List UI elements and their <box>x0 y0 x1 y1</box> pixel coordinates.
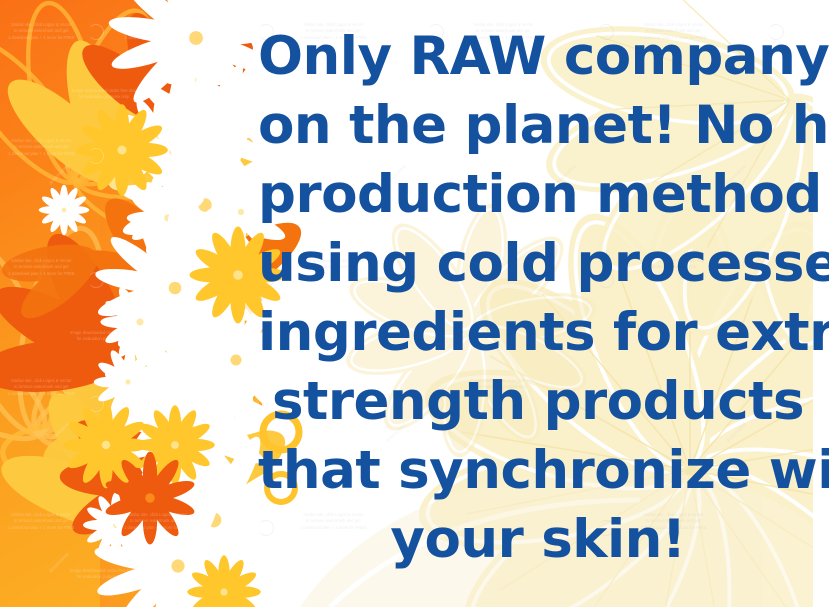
headline-line-7: that synchronize with <box>258 436 818 505</box>
headline-line-4: using cold processed <box>258 229 818 298</box>
headline-line-8: your skin! <box>258 505 818 574</box>
headline-layer: Only RAW company on the planet! No heat … <box>0 0 829 607</box>
promo-banner: Similar site, click Logos & Vector to re… <box>0 0 829 607</box>
headline-text: Only RAW company on the planet! No heat … <box>258 22 818 574</box>
headline-line-6: strength products <box>258 367 818 436</box>
headline-line-1: Only RAW company <box>258 22 818 91</box>
headline-line-5: ingredients for extra <box>258 298 818 367</box>
headline-line-2: on the planet! No heat <box>258 91 818 160</box>
headline-line-3: production method <box>258 160 818 229</box>
